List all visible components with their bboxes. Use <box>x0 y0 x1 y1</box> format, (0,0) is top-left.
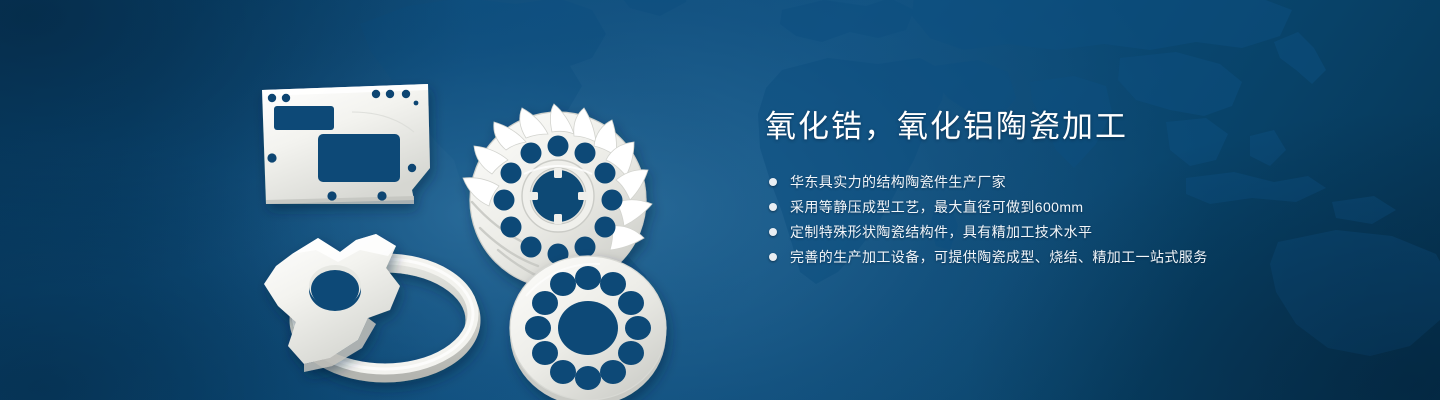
list-item-label: 定制特殊形状陶瓷结构件，具有精加工技术水平 <box>790 223 1092 241</box>
bullet-dot-icon <box>769 203 777 211</box>
bullet-dot-icon <box>769 228 777 236</box>
list-item-label: 华东具实力的结构陶瓷件生产厂家 <box>790 173 1006 191</box>
feature-list: 华东具实力的结构陶瓷件生产厂家 采用等静压成型工艺，最大直径可做到600mm 定… <box>769 173 1385 266</box>
bullet-dot-icon <box>769 178 777 186</box>
banner-copy: 氧化锆，氧化铝陶瓷加工 华东具实力的结构陶瓷件生产厂家 采用等静压成型工艺，最大… <box>765 108 1385 273</box>
page-title: 氧化锆，氧化铝陶瓷加工 <box>765 108 1385 147</box>
list-item: 完善的生产加工设备，可提供陶瓷成型、烧结、精加工一站式服务 <box>769 248 1385 266</box>
hero-banner: 氧化锆，氧化铝陶瓷加工 华东具实力的结构陶瓷件生产厂家 采用等静压成型工艺，最大… <box>0 0 1440 400</box>
list-item-label: 完善的生产加工设备，可提供陶瓷成型、烧结、精加工一站式服务 <box>790 248 1208 266</box>
list-item: 采用等静压成型工艺，最大直径可做到600mm <box>769 198 1385 216</box>
ceramic-perforated-disc <box>510 256 666 400</box>
list-item-label: 采用等静压成型工艺，最大直径可做到600mm <box>790 198 1083 216</box>
list-item: 定制特殊形状陶瓷结构件，具有精加工技术水平 <box>769 223 1385 241</box>
ceramic-products-photo <box>200 28 740 400</box>
bullet-dot-icon <box>769 253 777 261</box>
ceramic-machined-plate <box>262 84 430 204</box>
list-item: 华东具实力的结构陶瓷件生产厂家 <box>769 173 1385 191</box>
